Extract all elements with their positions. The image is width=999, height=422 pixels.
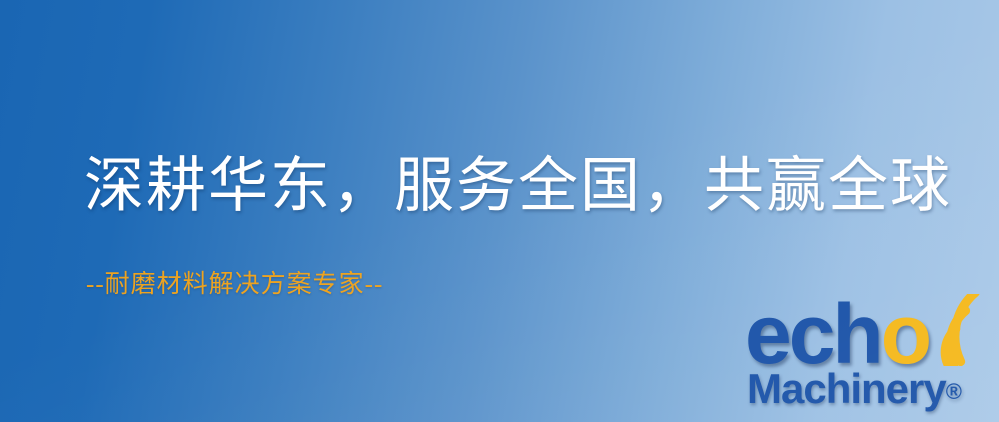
echo-machinery-logo: echo Machinery® xyxy=(745,296,995,420)
wifi-signal-arcs-icon xyxy=(919,294,997,366)
logo-tagline: Machinery® xyxy=(747,368,962,410)
logo-tagline-text: Machinery xyxy=(747,365,946,412)
logo-wordmark: echo xyxy=(745,292,929,376)
registered-trademark-icon: ® xyxy=(946,379,962,404)
banner-headline: 深耕华东，服务全国，共赢全球 xyxy=(84,152,952,222)
banner-subtitle: --耐磨材料解决方案专家-- xyxy=(86,264,383,300)
promo-banner: 深耕华东，服务全国，共赢全球 --耐磨材料解决方案专家-- echo Machi… xyxy=(0,0,999,422)
